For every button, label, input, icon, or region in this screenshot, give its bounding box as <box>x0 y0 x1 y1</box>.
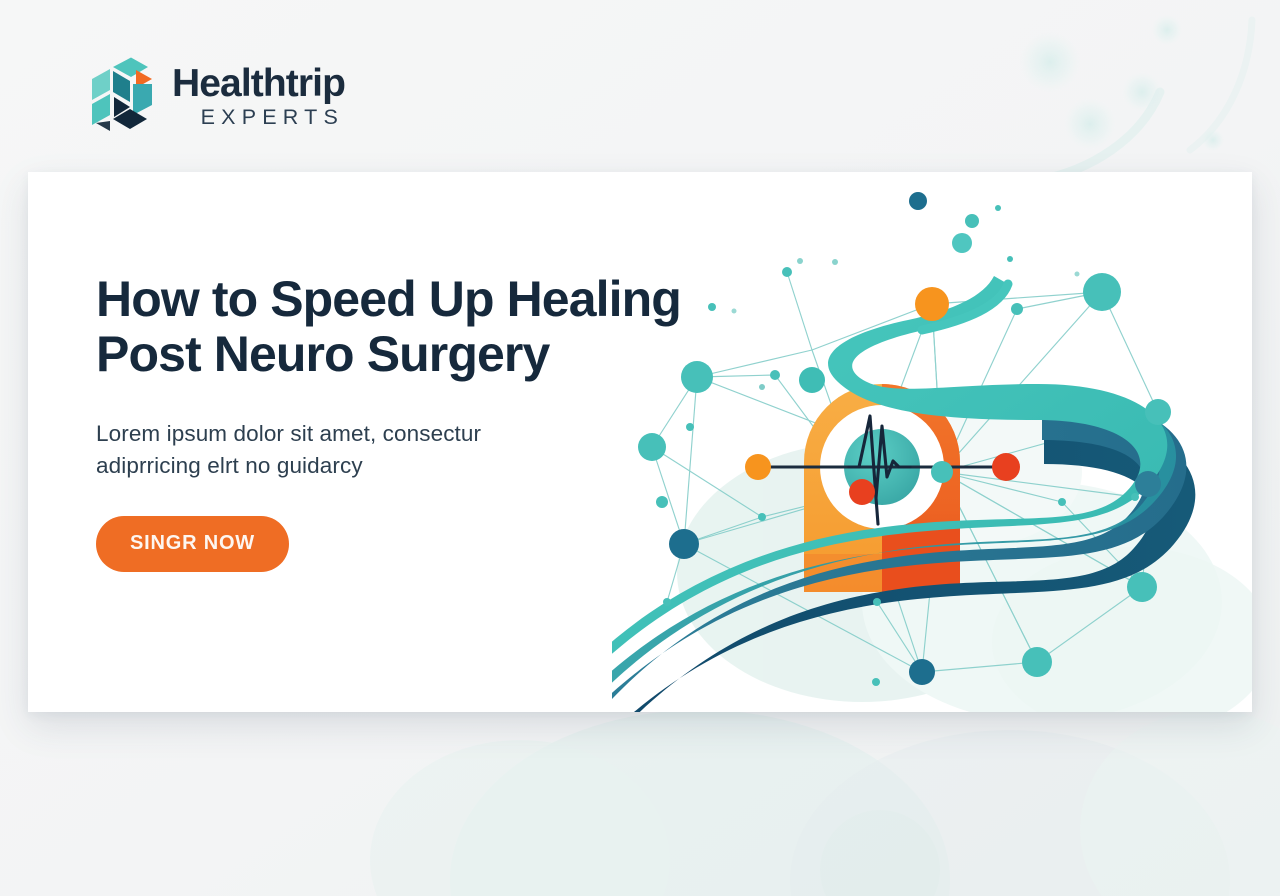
banner-card: How to Speed Up Healing Post Neuro Surge… <box>28 172 1252 712</box>
network-node <box>1011 303 1023 315</box>
network-node <box>686 423 694 431</box>
network-node-orange <box>915 287 949 321</box>
network-node-red <box>849 479 875 505</box>
network-node <box>1127 572 1157 602</box>
brand-wordmark: Healthtrip EXPERTS <box>172 63 345 130</box>
network-node <box>909 659 935 685</box>
network-node <box>782 267 792 277</box>
network-node <box>1022 647 1052 677</box>
hexagon-cube-logo-icon <box>86 57 160 137</box>
node-orange-left <box>745 454 771 480</box>
network-node <box>1058 498 1066 506</box>
network-node <box>1083 273 1121 311</box>
brand-subtitle: EXPERTS <box>172 104 345 131</box>
signup-now-button[interactable]: SINGR NOW <box>96 516 289 572</box>
network-node <box>681 361 713 393</box>
network-node <box>1145 399 1171 425</box>
brand-name: Healthtrip <box>172 65 345 103</box>
network-node <box>1131 493 1139 501</box>
network-node <box>638 433 666 461</box>
network-node <box>758 513 766 521</box>
network-node <box>931 461 953 483</box>
network-node <box>873 598 881 606</box>
node-red-right <box>992 453 1020 481</box>
network-node <box>663 598 671 606</box>
brand-logo[interactable]: Healthtrip EXPERTS <box>86 56 345 138</box>
network-node <box>656 496 668 508</box>
hero-illustration <box>612 172 1252 712</box>
network-node <box>669 529 699 559</box>
neuro-healing-journey-illustration <box>612 172 1252 712</box>
network-node <box>708 303 716 311</box>
network-node <box>872 678 880 686</box>
network-node <box>770 370 780 380</box>
